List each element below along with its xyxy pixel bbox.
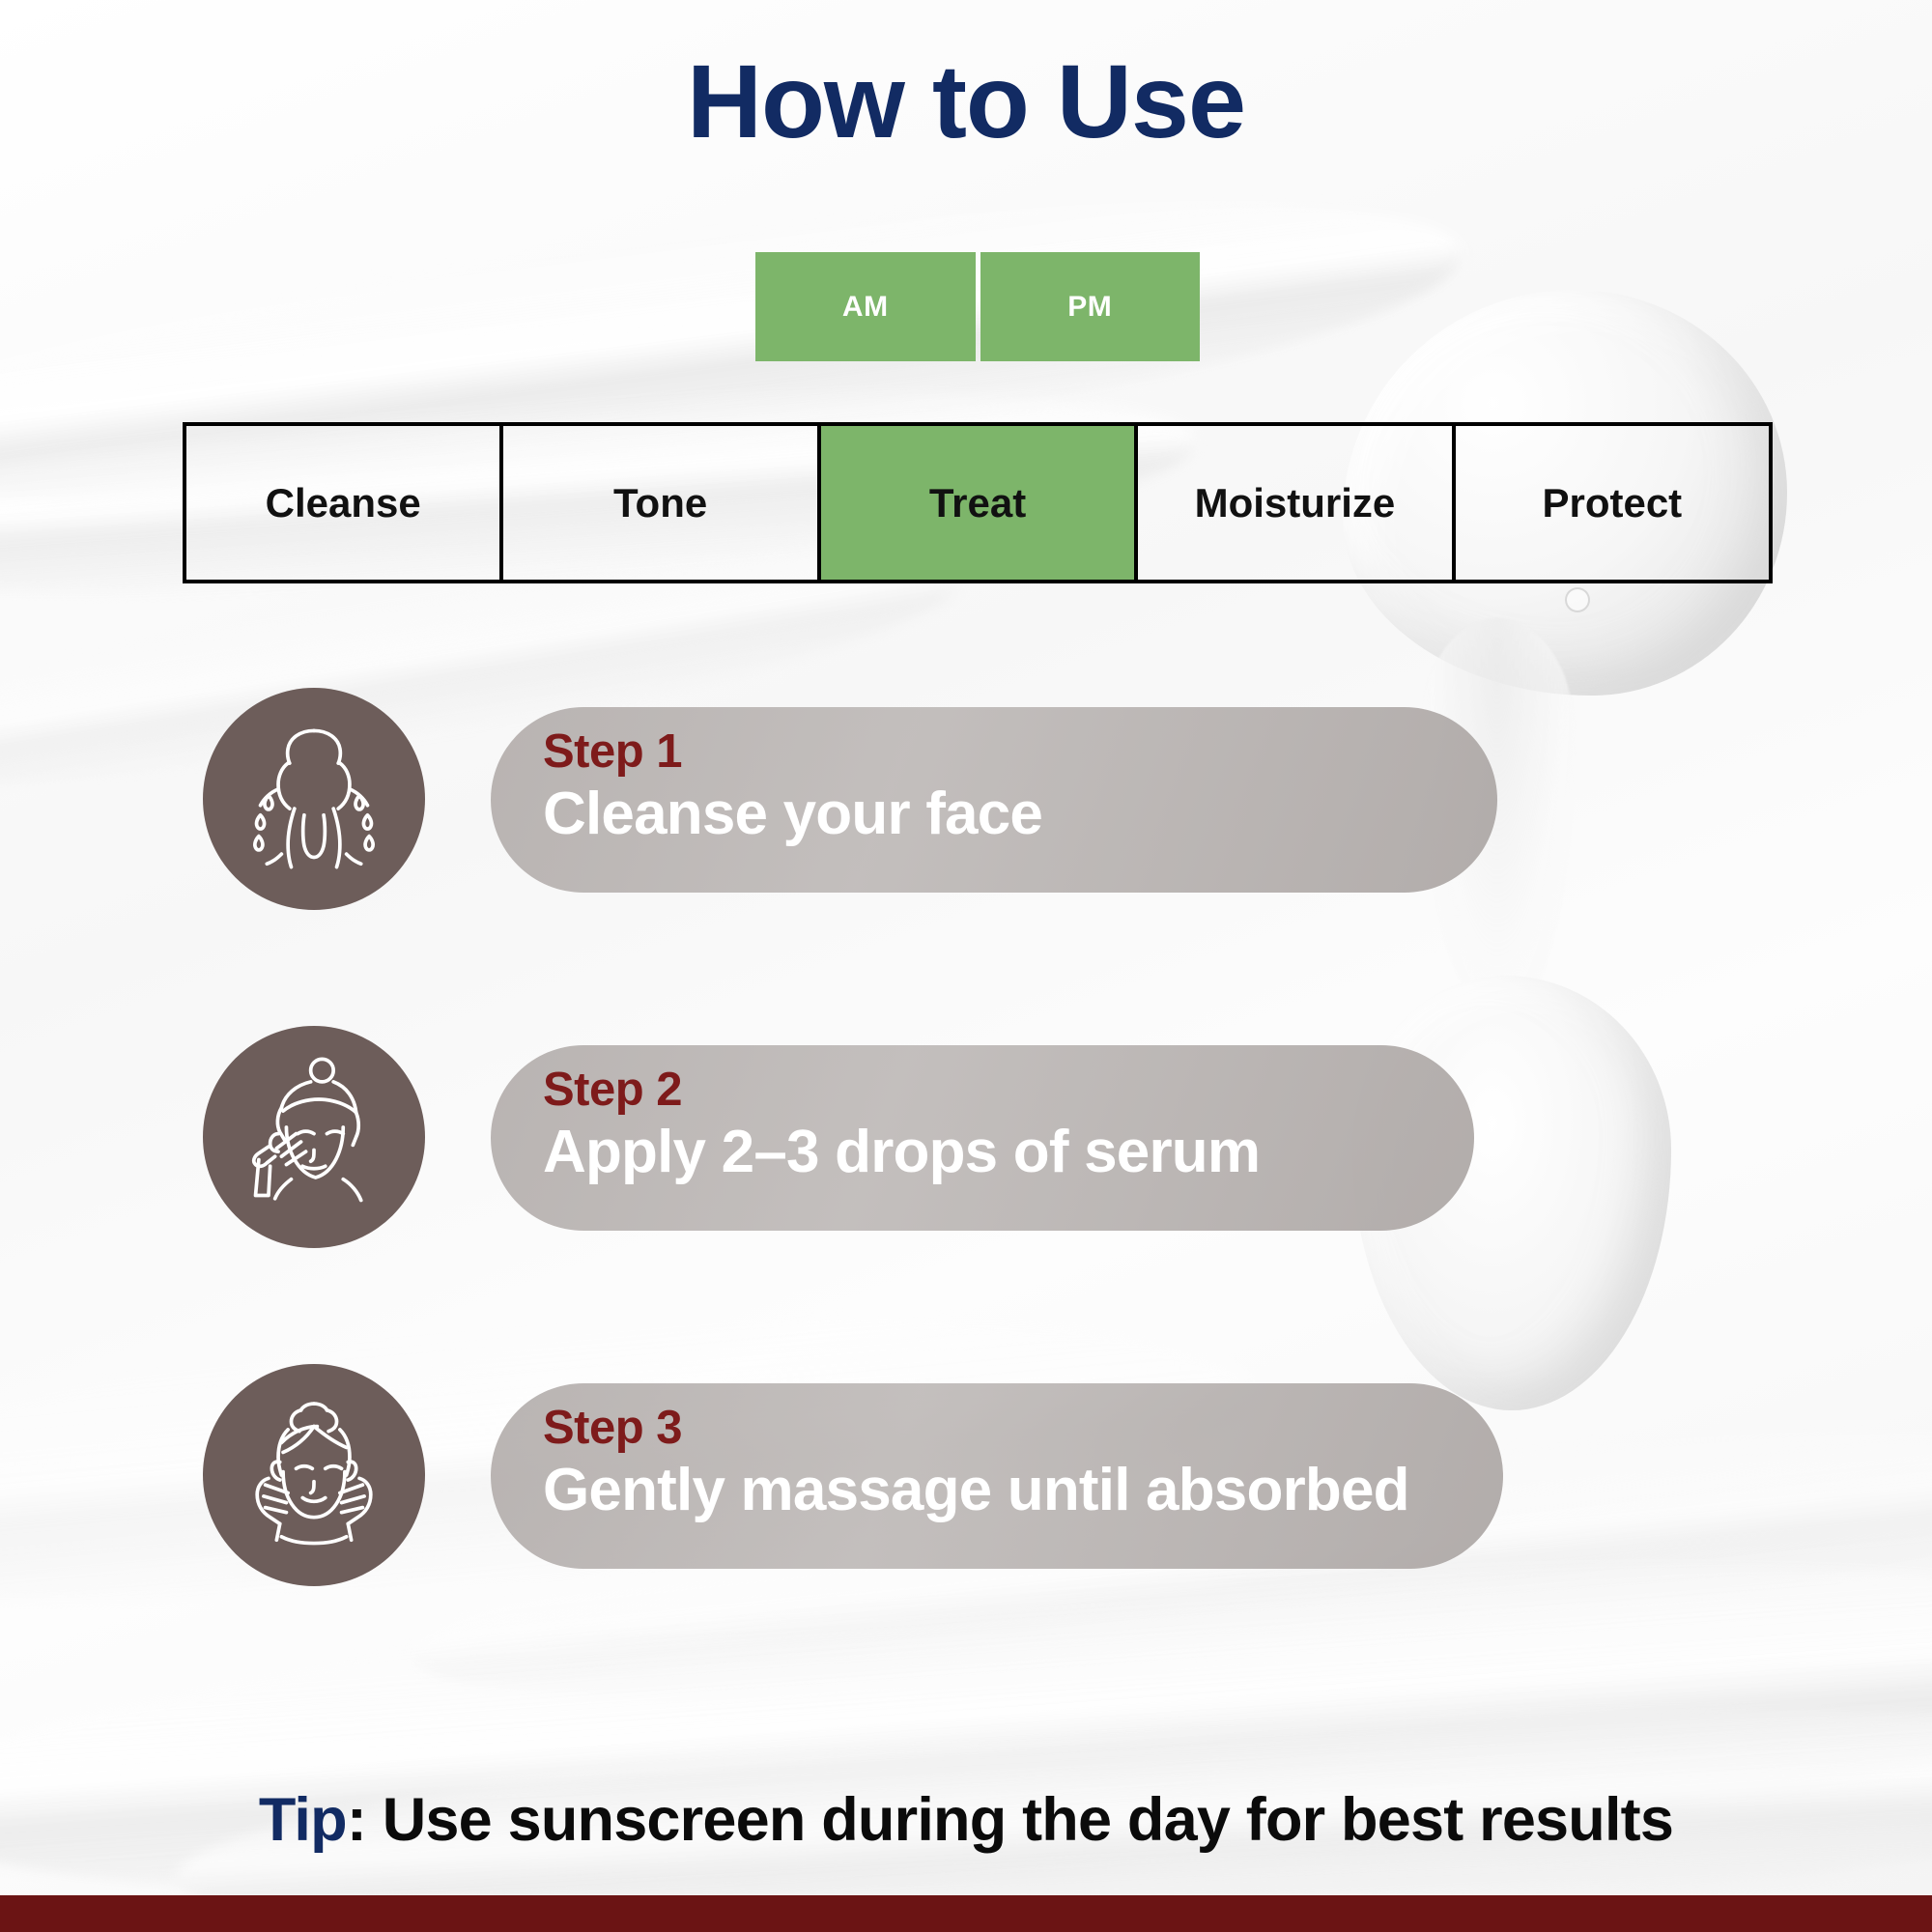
bubble-icon xyxy=(1565,587,1590,612)
routine-cell-treat[interactable]: Treat xyxy=(821,426,1138,580)
toggle-option-am[interactable]: AM xyxy=(755,252,976,361)
step-description: Gently massage until absorbed xyxy=(543,1459,1451,1521)
page-title: How to Use xyxy=(0,46,1932,156)
step-description: Cleanse your face xyxy=(543,782,1445,845)
step-pill: Step 3 Gently massage until absorbed xyxy=(491,1383,1503,1569)
step-label: Step 1 xyxy=(543,728,1445,777)
step-pill: Step 2 Apply 2–3 drops of serum xyxy=(491,1045,1474,1231)
toggle-option-pm[interactable]: PM xyxy=(980,252,1201,361)
step-description: Apply 2–3 drops of serum xyxy=(543,1121,1422,1183)
step-pill: Step 1 Cleanse your face xyxy=(491,707,1497,893)
step-label: Step 2 xyxy=(543,1066,1422,1115)
serum-dropper-icon xyxy=(203,1026,425,1248)
tip-text: Use sunscreen during the day for best re… xyxy=(383,1786,1673,1854)
am-pm-toggle[interactable]: AM PM xyxy=(755,252,1200,361)
tip-line: Tip: Use sunscreen during the day for be… xyxy=(0,1785,1932,1855)
routine-cell-tone[interactable]: Tone xyxy=(503,426,820,580)
routine-step-bar: Cleanse Tone Treat Moisturize Protect xyxy=(183,422,1773,583)
face-massage-icon xyxy=(203,1364,425,1586)
routine-cell-cleanse[interactable]: Cleanse xyxy=(186,426,503,580)
step-label: Step 3 xyxy=(543,1405,1451,1453)
tip-separator: : xyxy=(347,1786,383,1854)
tip-keyword: Tip xyxy=(259,1786,347,1854)
face-washing-icon xyxy=(203,688,425,910)
bottom-accent-bar xyxy=(0,1895,1932,1932)
routine-cell-protect[interactable]: Protect xyxy=(1456,426,1769,580)
routine-cell-moisturize[interactable]: Moisturize xyxy=(1138,426,1455,580)
infographic-canvas: How to Use AM PM Cleanse Tone Treat Mois… xyxy=(0,0,1932,1932)
